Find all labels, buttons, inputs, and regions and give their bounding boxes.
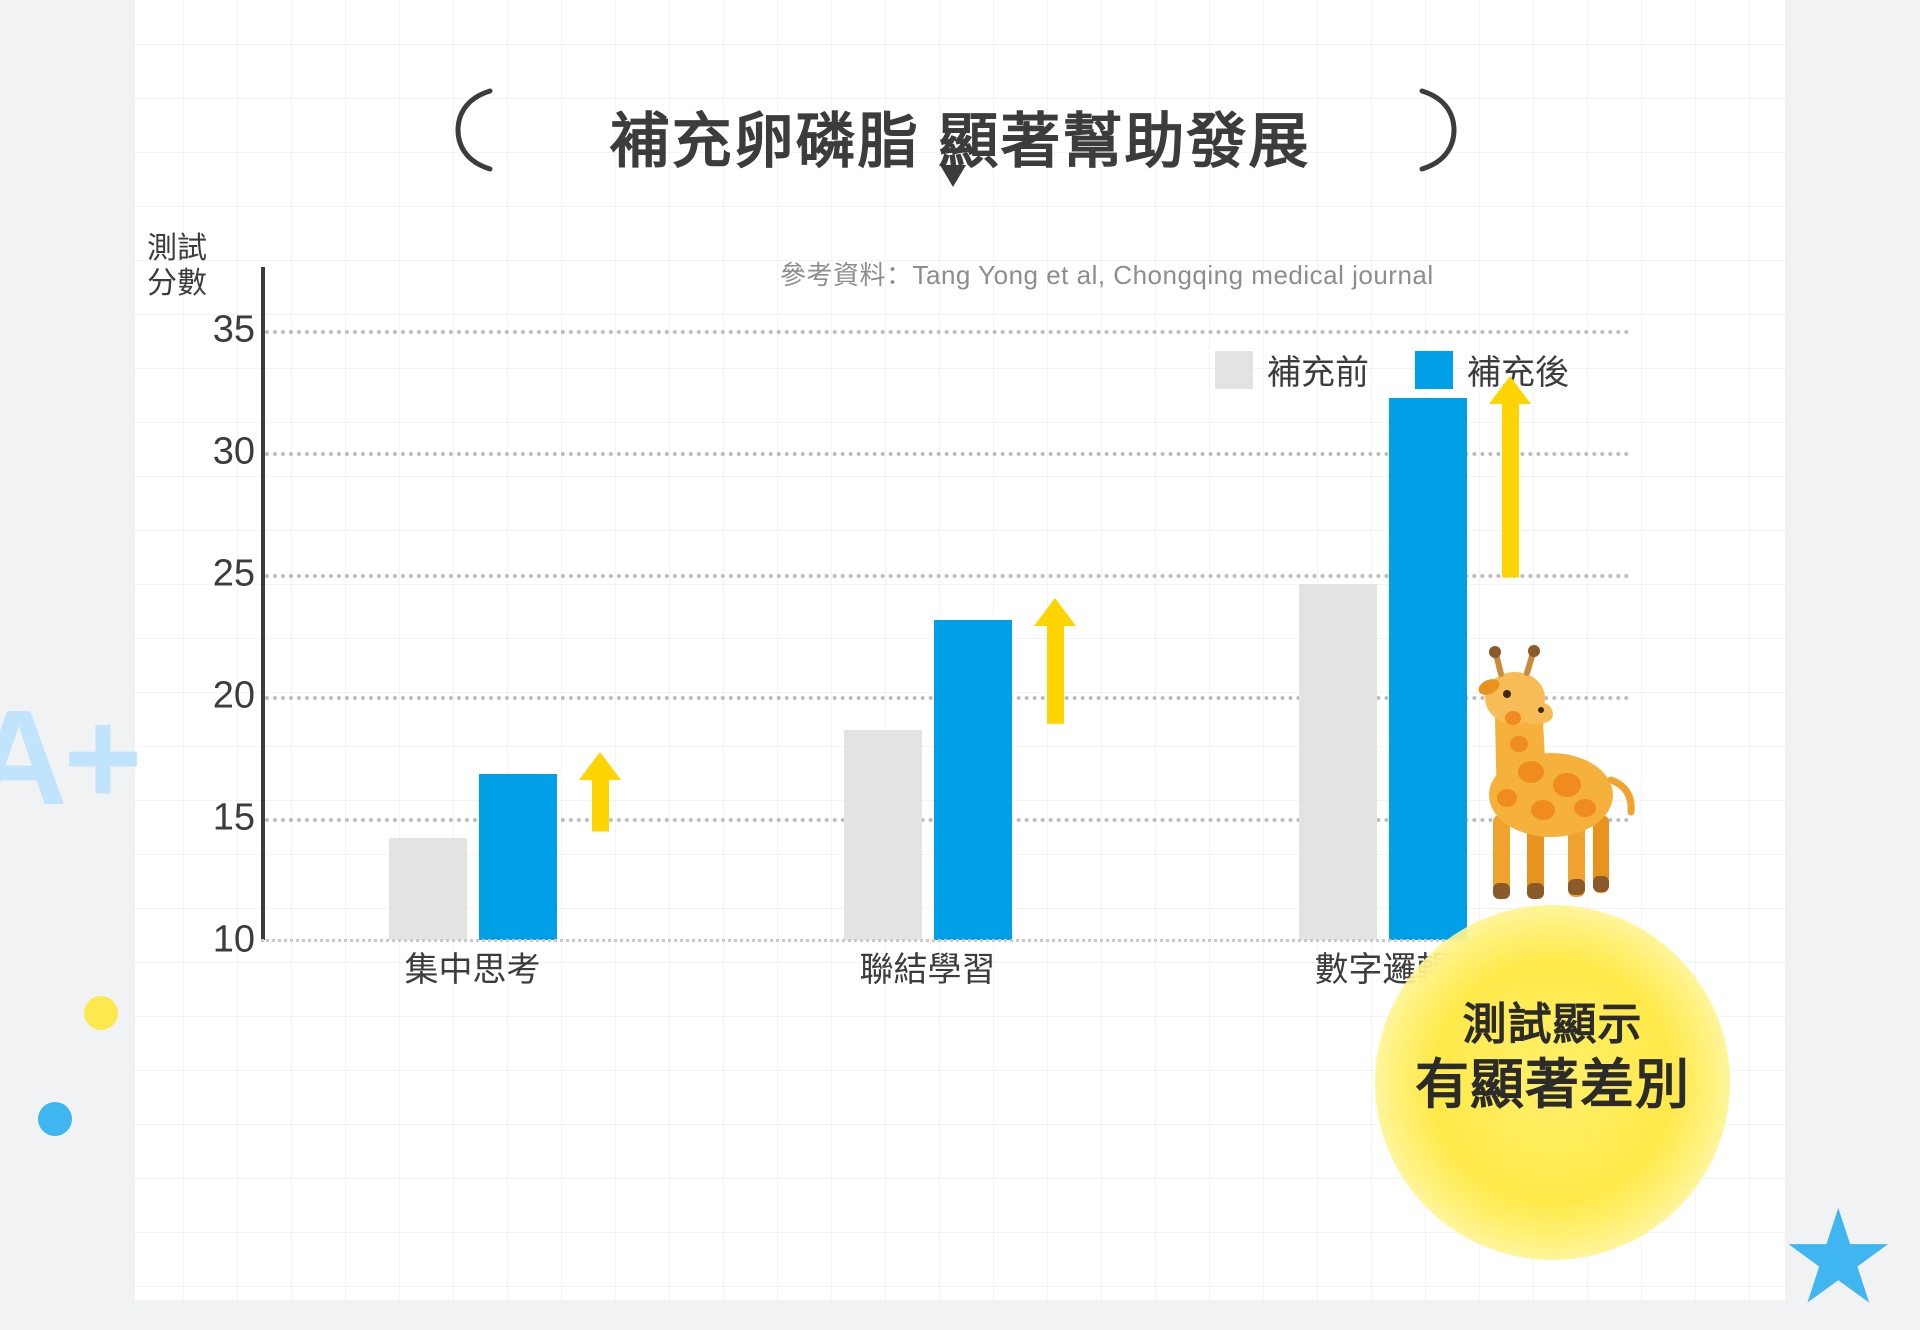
y-axis-tick-label: 10 — [213, 919, 255, 962]
bar-before-數字邏輯[interactable] — [1299, 584, 1377, 940]
bar-after-集中思考[interactable] — [479, 774, 557, 940]
reference-source: 參考資料：Tang Yong et al, Chongqing medical … — [780, 255, 1434, 292]
increase-arrow-icon — [577, 752, 623, 831]
giraffe-mascot-icon — [1435, 640, 1655, 910]
title-brace-left-icon — [450, 87, 494, 173]
badge-text: 測試顯示 有顯著差別 — [1375, 997, 1730, 1120]
badge-line-2: 有顯著差別 — [1375, 1052, 1730, 1120]
y-axis-tick-label: 25 — [213, 553, 255, 596]
decorative-star-icon: ★ — [1780, 1202, 1900, 1322]
page-background: A+ ★ 補充卵磷脂 顯著幫助發展 參考資料：Tang Yong et al, … — [0, 0, 1920, 1330]
reference-label: 參考資料： — [780, 260, 913, 290]
gridline — [265, 330, 1630, 334]
decorative-blue-dot — [38, 1102, 72, 1136]
plot-area: 測試 分數 101520253035 集中思考聯結學習數字邏輯 — [265, 330, 1630, 940]
x-axis-label-聯結學習: 聯結學習 — [860, 942, 996, 991]
y-axis-tick-label: 35 — [213, 309, 255, 352]
y-axis-title-line2: 分數 — [133, 267, 221, 302]
increase-arrow-icon — [1032, 598, 1078, 724]
title-brace-right-icon — [1418, 87, 1462, 173]
y-axis-line — [261, 267, 265, 940]
title-pointer-icon — [940, 165, 966, 187]
bar-before-聯結學習[interactable] — [844, 730, 922, 940]
y-axis-title-line1: 測試 — [133, 232, 221, 267]
bar-after-聯結學習[interactable] — [934, 620, 1012, 940]
y-axis-tick-label: 15 — [213, 797, 255, 840]
chart-title-block: 補充卵磷脂 顯著幫助發展 — [510, 93, 1410, 173]
reference-value: Tang Yong et al, Chongqing medical journ… — [913, 260, 1434, 290]
y-axis-tick-label: 30 — [213, 431, 255, 474]
y-axis-title: 測試 分數 — [133, 232, 221, 301]
increase-arrow-icon — [1487, 376, 1533, 577]
highlight-badge: 測試顯示 有顯著差別 — [1375, 905, 1730, 1260]
decorative-yellow-dot — [84, 996, 118, 1030]
badge-line-1: 測試顯示 — [1375, 997, 1730, 1052]
decorative-a-plus: A+ — [0, 690, 130, 820]
bar-before-集中思考[interactable] — [389, 838, 467, 940]
x-axis-label-集中思考: 集中思考 — [405, 942, 541, 991]
y-axis-tick-label: 20 — [213, 675, 255, 718]
